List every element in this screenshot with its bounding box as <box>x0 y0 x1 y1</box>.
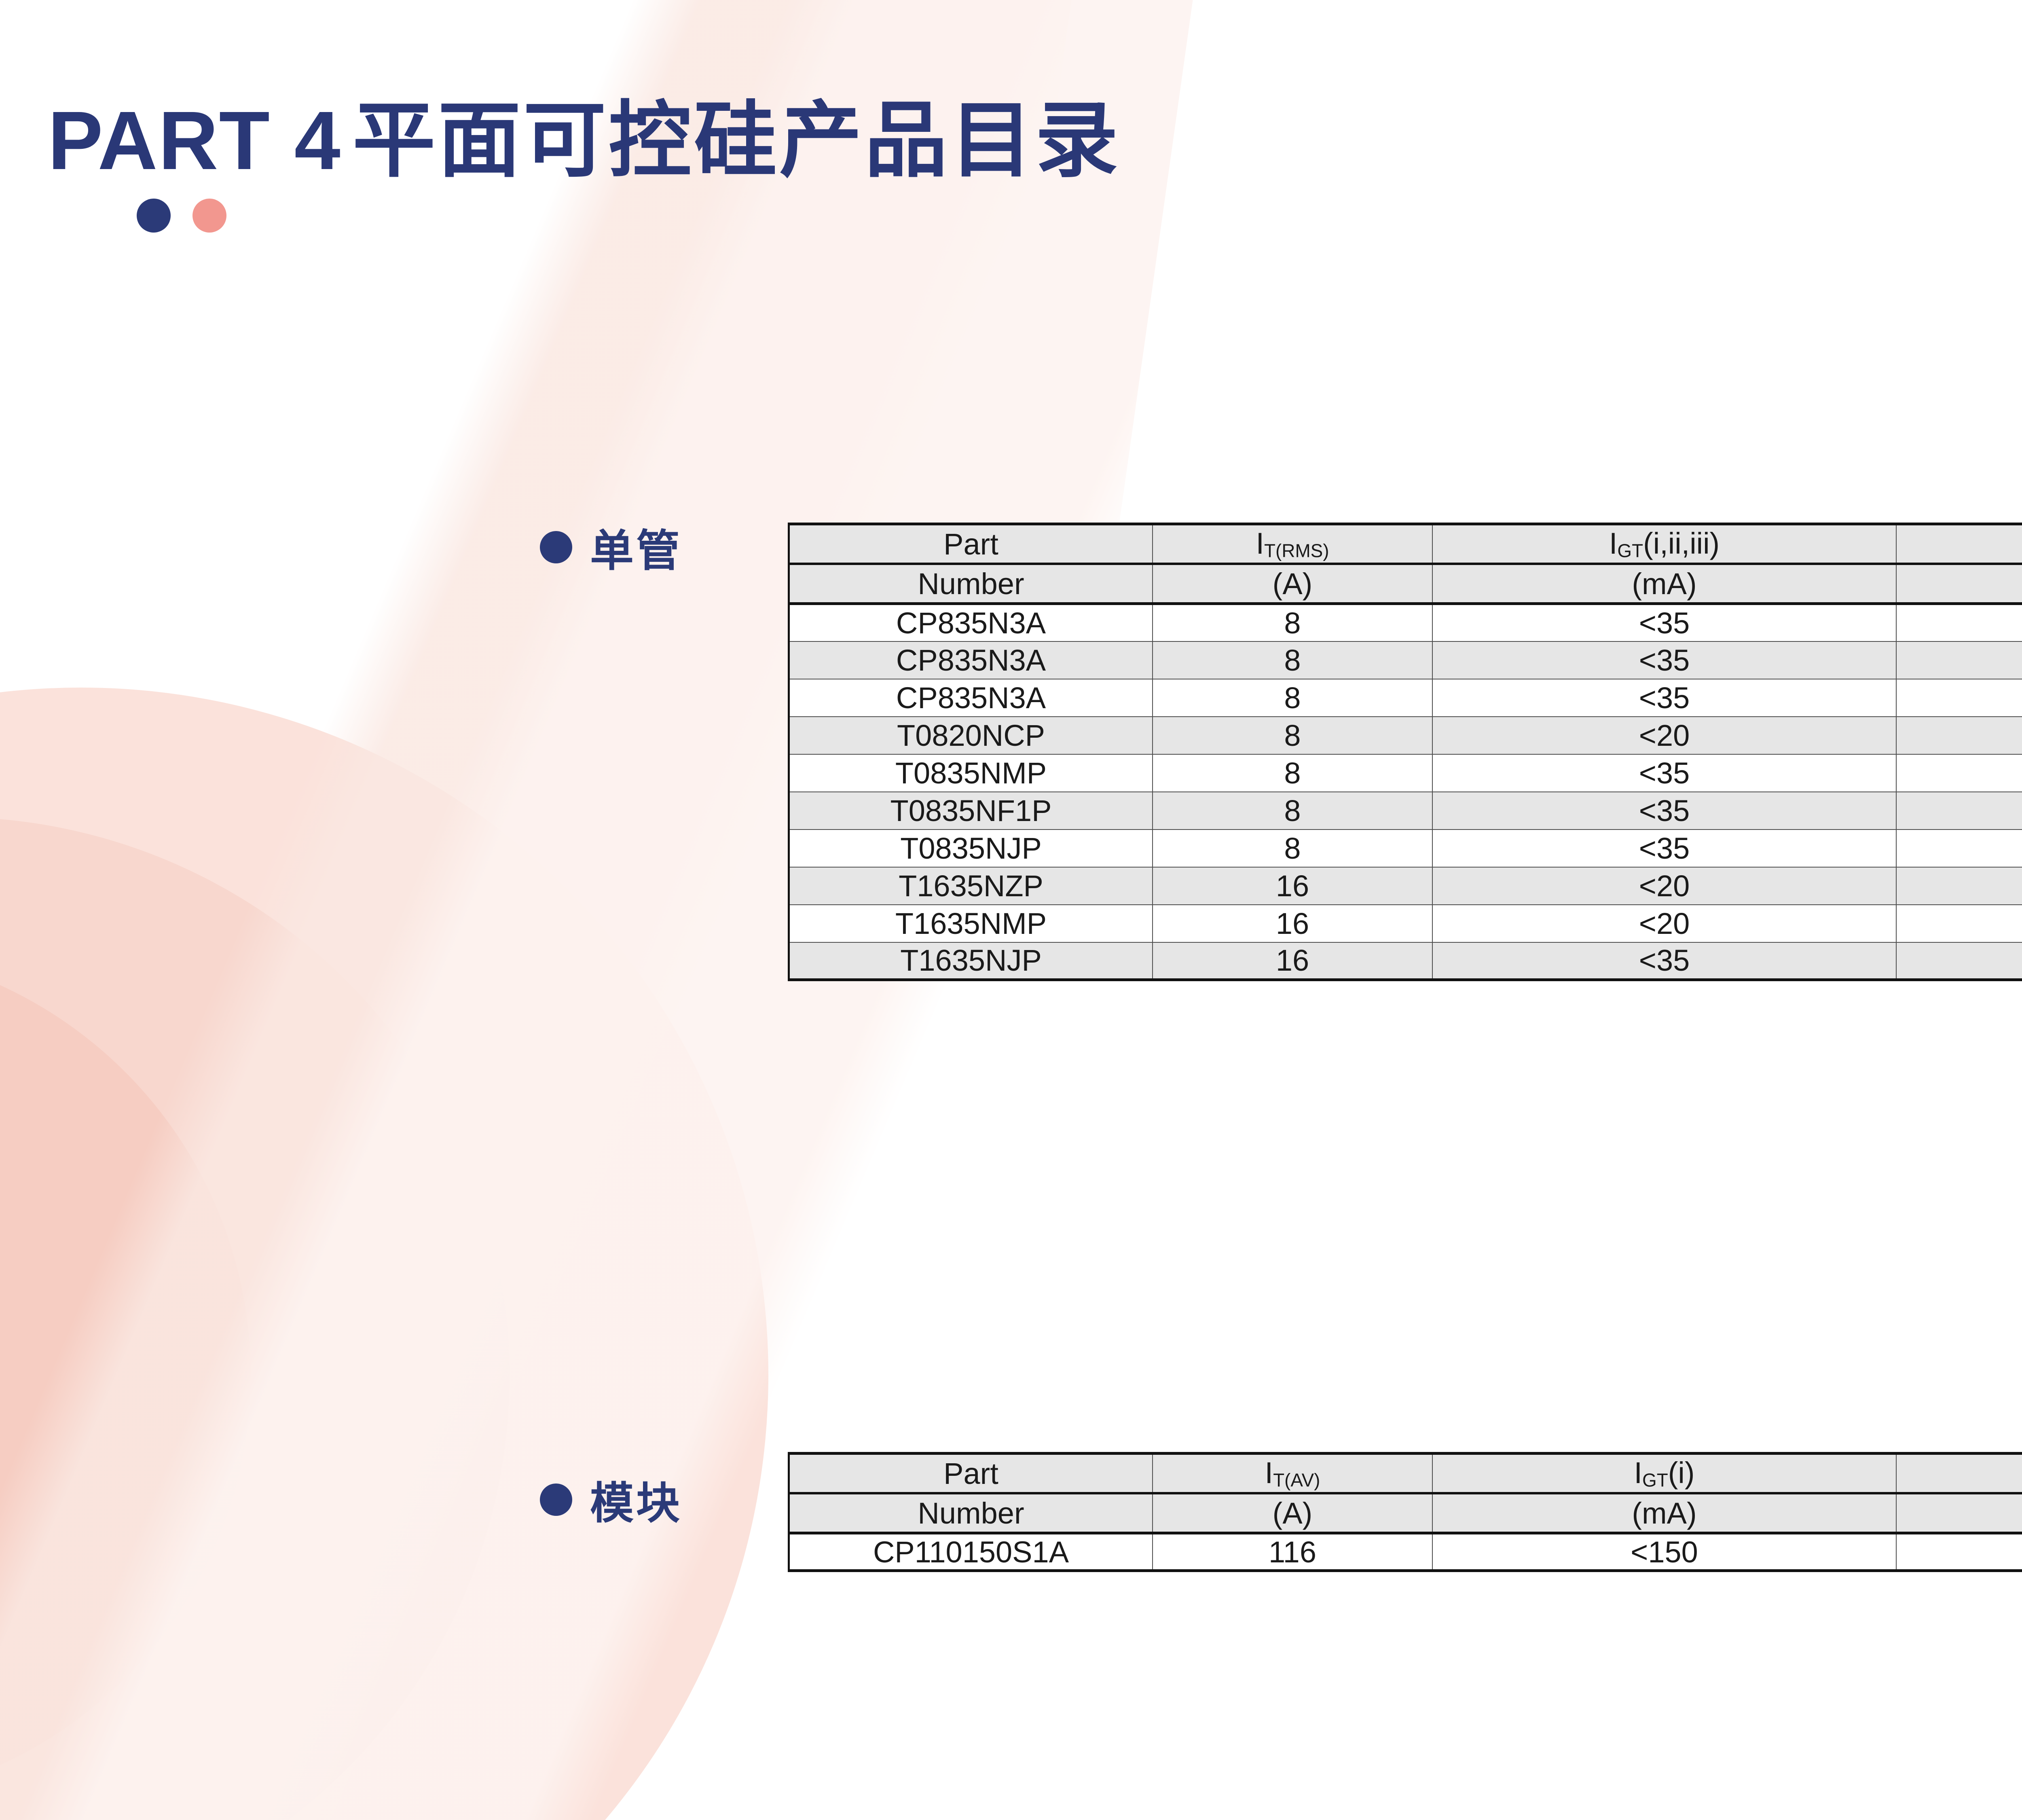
cell-gate-current: <35 <box>1432 754 1896 792</box>
section-label-single-device: 单管 <box>540 516 682 579</box>
section-label-text: 模块 <box>590 1468 682 1531</box>
col-header-vdrm: VDRM <box>1896 1454 2022 1494</box>
col-subheader-igt-unit: (mA) <box>1432 564 1896 604</box>
col-subheader-vdrm-unit: (V) <box>1896 564 2022 604</box>
col-header-it-rms: IT(RMS) <box>1153 524 1432 564</box>
cell-gate-current: <150 <box>1432 1533 1896 1571</box>
page-title-chinese: 平面可控硅产品目录 <box>353 94 1121 187</box>
cell-part-number: T0835NMP <box>789 754 1153 792</box>
table-header-row-top: Part IT(RMS) IGT(i,ii,iii) VDRM VTM Pack… <box>789 524 2022 564</box>
page-title-part: PART 4 <box>48 94 341 187</box>
single-device-table-container: Part IT(RMS) IGT(i,ii,iii) VDRM VTM Pack… <box>788 523 2022 981</box>
cell-vdrm: 800 <box>1896 754 2022 792</box>
table-row: CP110150S1A116<15016001.5MTC <box>789 1533 2022 1571</box>
bullet-dot-icon <box>540 531 572 563</box>
col-header-it-av: IT(AV) <box>1153 1454 1432 1494</box>
cell-part-number: T0835NF1P <box>789 792 1153 830</box>
navy-dot <box>137 199 171 233</box>
col-subheader-number: Number <box>789 564 1153 604</box>
cell-gate-current: <20 <box>1432 717 1896 754</box>
cell-gate-current: <35 <box>1432 830 1896 867</box>
bullet-dot-icon <box>540 1484 572 1516</box>
cell-current: 8 <box>1153 792 1432 830</box>
background-arc-3 <box>0 946 251 1804</box>
cell-part-number: T1635NJP <box>789 942 1153 980</box>
cell-current: 8 <box>1153 830 1432 867</box>
cell-vdrm: 1600 <box>1896 1533 2022 1571</box>
cell-vdrm: 800 <box>1896 792 2022 830</box>
col-subheader-number: Number <box>789 1493 1153 1533</box>
cell-current: 16 <box>1153 867 1432 905</box>
table-row: T1635NMP16<208001.7TO-220MF-K1 <box>789 905 2022 942</box>
cell-gate-current: <35 <box>1432 942 1896 980</box>
cell-current: 116 <box>1153 1533 1432 1571</box>
section-label-module: 模块 <box>540 1468 682 1531</box>
cell-part-number: CP835N3A <box>789 679 1153 717</box>
cell-part-number: T0835NJP <box>789 830 1153 867</box>
cell-part-number: T0820NCP <box>789 717 1153 754</box>
cell-part-number: CP835N3A <box>789 641 1153 679</box>
cell-current: 8 <box>1153 604 1432 641</box>
col-subheader-it-unit: (A) <box>1153 1493 1432 1533</box>
col-subheader-vdrm-unit: (V) <box>1896 1493 2022 1533</box>
cell-part-number: T1635NMP <box>789 905 1153 942</box>
section-label-text: 单管 <box>590 516 682 579</box>
background-arc-2 <box>0 817 510 1820</box>
table-header-row-bottom: Number (A) (mA) (V) (V) <box>789 564 2022 604</box>
cell-part-number: CP835N3A <box>789 604 1153 641</box>
cell-current: 8 <box>1153 754 1432 792</box>
col-header-igt: IGT(i) <box>1432 1454 1896 1494</box>
page-header: PART 4平面可控硅产品目录 <box>48 97 1121 233</box>
table-head: Part IT(RMS) IGT(i,ii,iii) VDRM VTM Pack… <box>789 524 2022 604</box>
cell-vdrm: 800 <box>1896 604 2022 641</box>
cell-vdrm: 800 <box>1896 717 2022 754</box>
table-row: CP835N3A8<358001.7TO-220C <box>789 641 2022 679</box>
table-header-row-top: Part IT(AV) IGT(i) VDRM VTM Package <box>789 1454 2022 1494</box>
col-subheader-igt-unit: (mA) <box>1432 1493 1896 1533</box>
cell-part-number: T1635NZP <box>789 867 1153 905</box>
cell-vdrm: 800 <box>1896 679 2022 717</box>
col-header-igt: IGT(i,ii,iii) <box>1432 524 1896 564</box>
cell-gate-current: <20 <box>1432 867 1896 905</box>
cell-gate-current: <35 <box>1432 792 1896 830</box>
cell-vdrm: 800 <box>1896 641 2022 679</box>
col-subheader-it-unit: (A) <box>1153 564 1432 604</box>
table-head: Part IT(AV) IGT(i) VDRM VTM Package Numb… <box>789 1454 2022 1533</box>
module-table-container: Part IT(AV) IGT(i) VDRM VTM Package Numb… <box>788 1452 2022 1572</box>
col-header-part: Part <box>789 524 1153 564</box>
module-table: Part IT(AV) IGT(i) VDRM VTM Package Numb… <box>788 1452 2022 1572</box>
title-decor-dots <box>137 199 1121 233</box>
table-row: CP835N3A8<358001.7TO-220S <box>789 679 2022 717</box>
table-header-row-bottom: Number (A) (mA) (V) (V) <box>789 1493 2022 1533</box>
cell-current: 16 <box>1153 942 1432 980</box>
table-row: T0820NCP8<208001.7TO-220C <box>789 717 2022 754</box>
cell-current: 8 <box>1153 717 1432 754</box>
cell-vdrm: 800 <box>1896 905 2022 942</box>
cell-vdrm: 800 <box>1896 830 2022 867</box>
col-header-vdrm: VDRM <box>1896 524 2022 564</box>
table-body: CP110150S1A116<15016001.5MTC <box>789 1533 2022 1571</box>
table-row: T0835NJP8<358001.7TO-220S <box>789 830 2022 867</box>
cell-gate-current: <35 <box>1432 604 1896 641</box>
cell-current: 8 <box>1153 679 1432 717</box>
cell-gate-current: <35 <box>1432 679 1896 717</box>
pink-dot <box>192 199 226 233</box>
single-device-table: Part IT(RMS) IGT(i,ii,iii) VDRM VTM Pack… <box>788 523 2022 981</box>
table-row: T0835NF1P8<358001.7TO-220MF-K1 <box>789 792 2022 830</box>
cell-gate-current: <20 <box>1432 905 1896 942</box>
table-row: T0835NMP8<358001.7TO-220MF-K1 <box>789 754 2022 792</box>
background-arc-outer <box>0 688 768 1820</box>
table-row: CP835N3A8<358001.7TO-220MF-K1 <box>789 604 2022 641</box>
cell-part-number: CP110150S1A <box>789 1533 1153 1571</box>
page-title: PART 4平面可控硅产品目录 <box>48 97 1121 184</box>
col-header-part: Part <box>789 1454 1153 1494</box>
cell-current: 16 <box>1153 905 1432 942</box>
cell-gate-current: <35 <box>1432 641 1896 679</box>
cell-vdrm: 800 <box>1896 867 2022 905</box>
table-row: T1635NJP16<358001.7TO-220S <box>789 942 2022 980</box>
table-row: T1635NZP16<208001.7TO-220C <box>789 867 2022 905</box>
table-body: CP835N3A8<358001.7TO-220MF-K1CP835N3A8<3… <box>789 604 2022 980</box>
cell-current: 8 <box>1153 641 1432 679</box>
cell-vdrm: 800 <box>1896 942 2022 980</box>
